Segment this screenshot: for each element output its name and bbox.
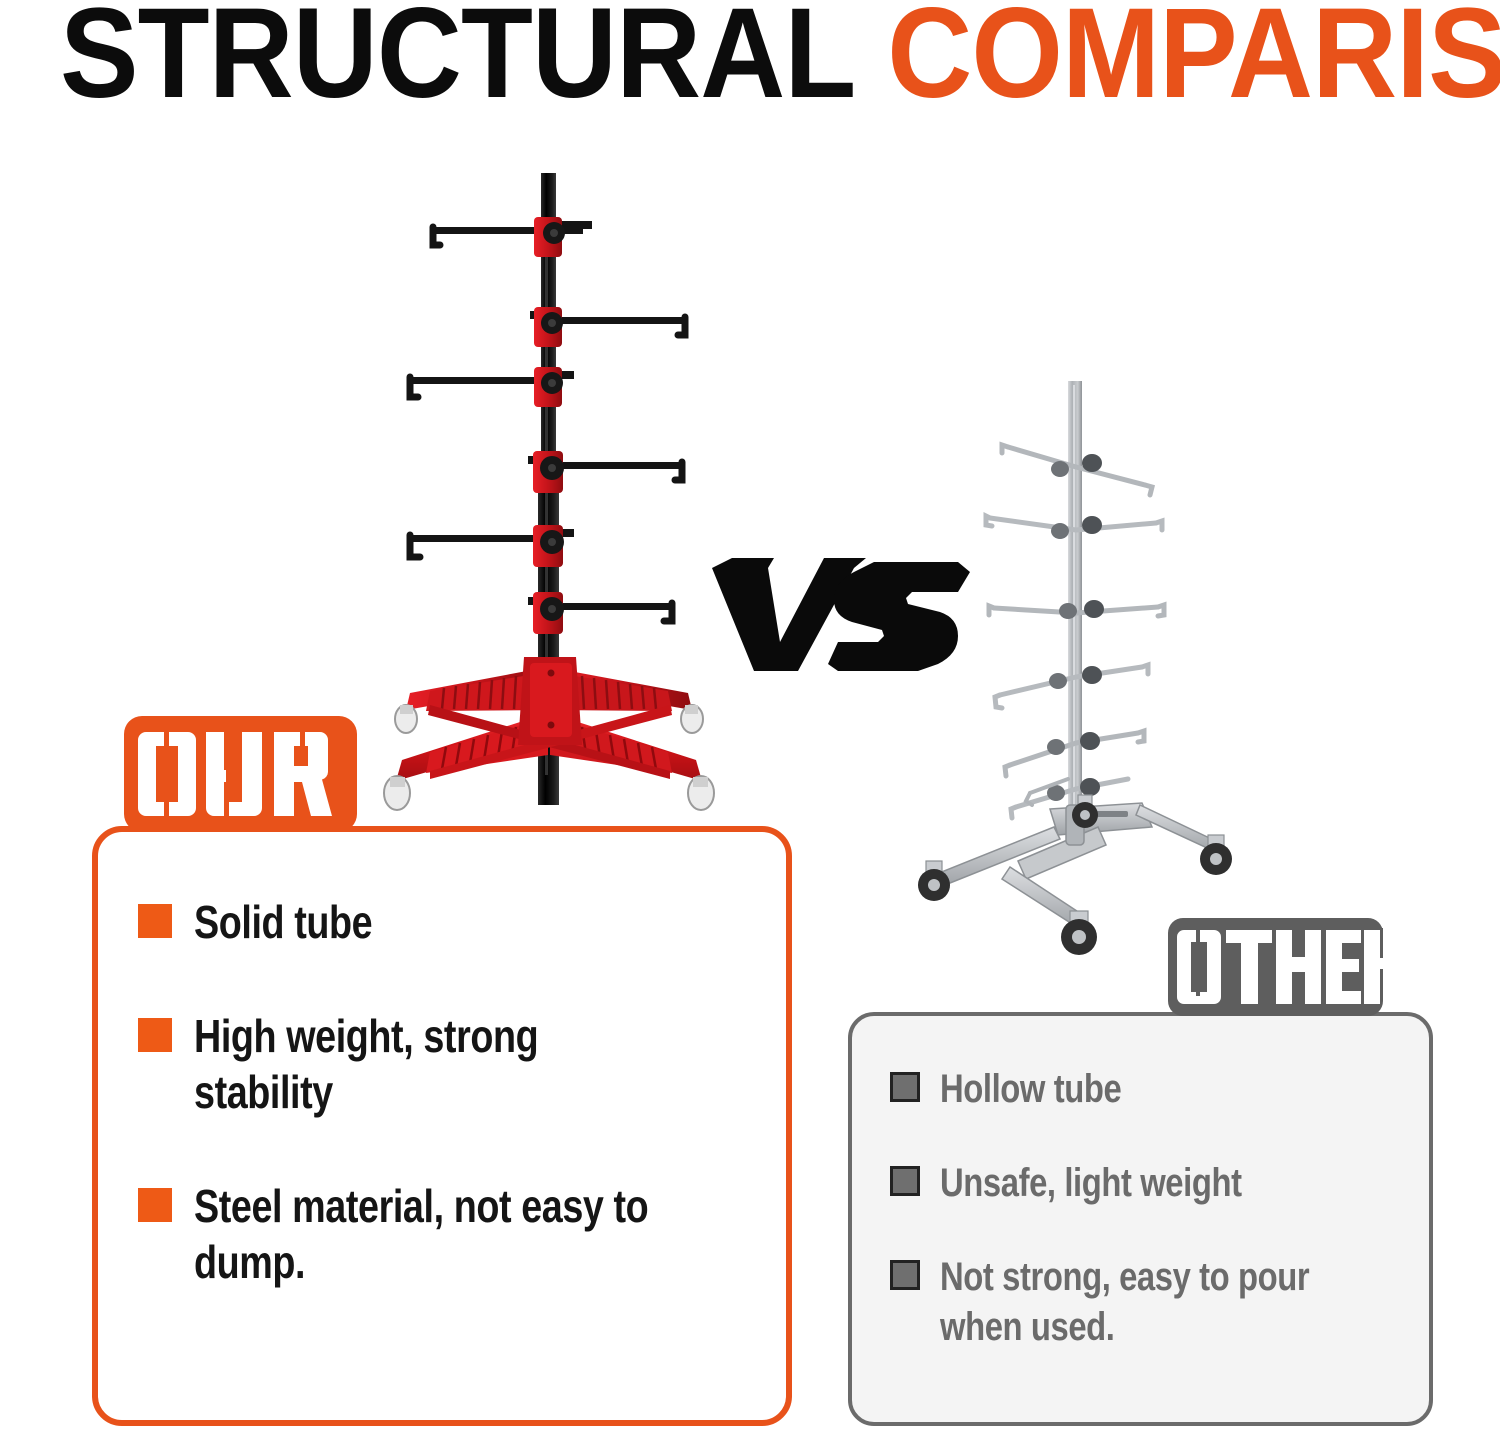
- other-feature-1: Hollow tube: [940, 1064, 1325, 1114]
- bullet-square-icon: [890, 1260, 920, 1290]
- our-feature-3: Steel material, not easy to dump.: [194, 1178, 660, 1290]
- bullet-square-icon: [890, 1166, 920, 1196]
- list-item: Not strong, easy to pour when used.: [890, 1252, 1409, 1352]
- other-feature-list: Hollow tube Unsafe, light weight Not str…: [890, 1064, 1409, 1396]
- title-part-comparison: COMPARISON: [887, 0, 1500, 125]
- our-feature-1: Solid tube: [194, 894, 660, 950]
- title-part-structural: STRUCTURAL: [60, 0, 855, 125]
- page-title: STRUCTURAL COMPARISON: [60, 0, 1440, 114]
- arm-1: [433, 221, 592, 245]
- our-feature-2: High weight, strong stability: [194, 1008, 660, 1120]
- other-badge: OTHER: [1168, 918, 1383, 1016]
- bullet-square-icon: [890, 1072, 920, 1102]
- list-item: Solid tube: [138, 894, 762, 950]
- clamp-1: [534, 217, 565, 257]
- other-feature-3: Not strong, easy to pour when used.: [940, 1252, 1325, 1352]
- list-item: Unsafe, light weight: [890, 1158, 1409, 1208]
- list-item: Hollow tube: [890, 1064, 1409, 1114]
- our-badge: OUR: [124, 716, 357, 832]
- bullet-square-icon: [138, 1188, 172, 1222]
- clamp-6: [533, 592, 564, 634]
- list-item: High weight, strong stability: [138, 1008, 762, 1120]
- our-product-image: [370, 165, 720, 845]
- bullet-square-icon: [138, 904, 172, 938]
- clamp-4: [533, 451, 564, 493]
- clamp-2: [534, 307, 563, 347]
- other-feature-2: Unsafe, light weight: [940, 1158, 1325, 1208]
- our-comparison-box: Solid tube High weight, strong stability…: [92, 826, 792, 1426]
- bullet-square-icon: [138, 1018, 172, 1052]
- vs-badge: [706, 546, 976, 671]
- clamp-5: [533, 525, 564, 567]
- list-item: Steel material, not easy to dump.: [138, 1178, 762, 1290]
- other-comparison-box: Hollow tube Unsafe, light weight Not str…: [848, 1012, 1433, 1426]
- clamp-3: [534, 367, 563, 407]
- our-feature-list: Solid tube High weight, strong stability…: [138, 894, 762, 1290]
